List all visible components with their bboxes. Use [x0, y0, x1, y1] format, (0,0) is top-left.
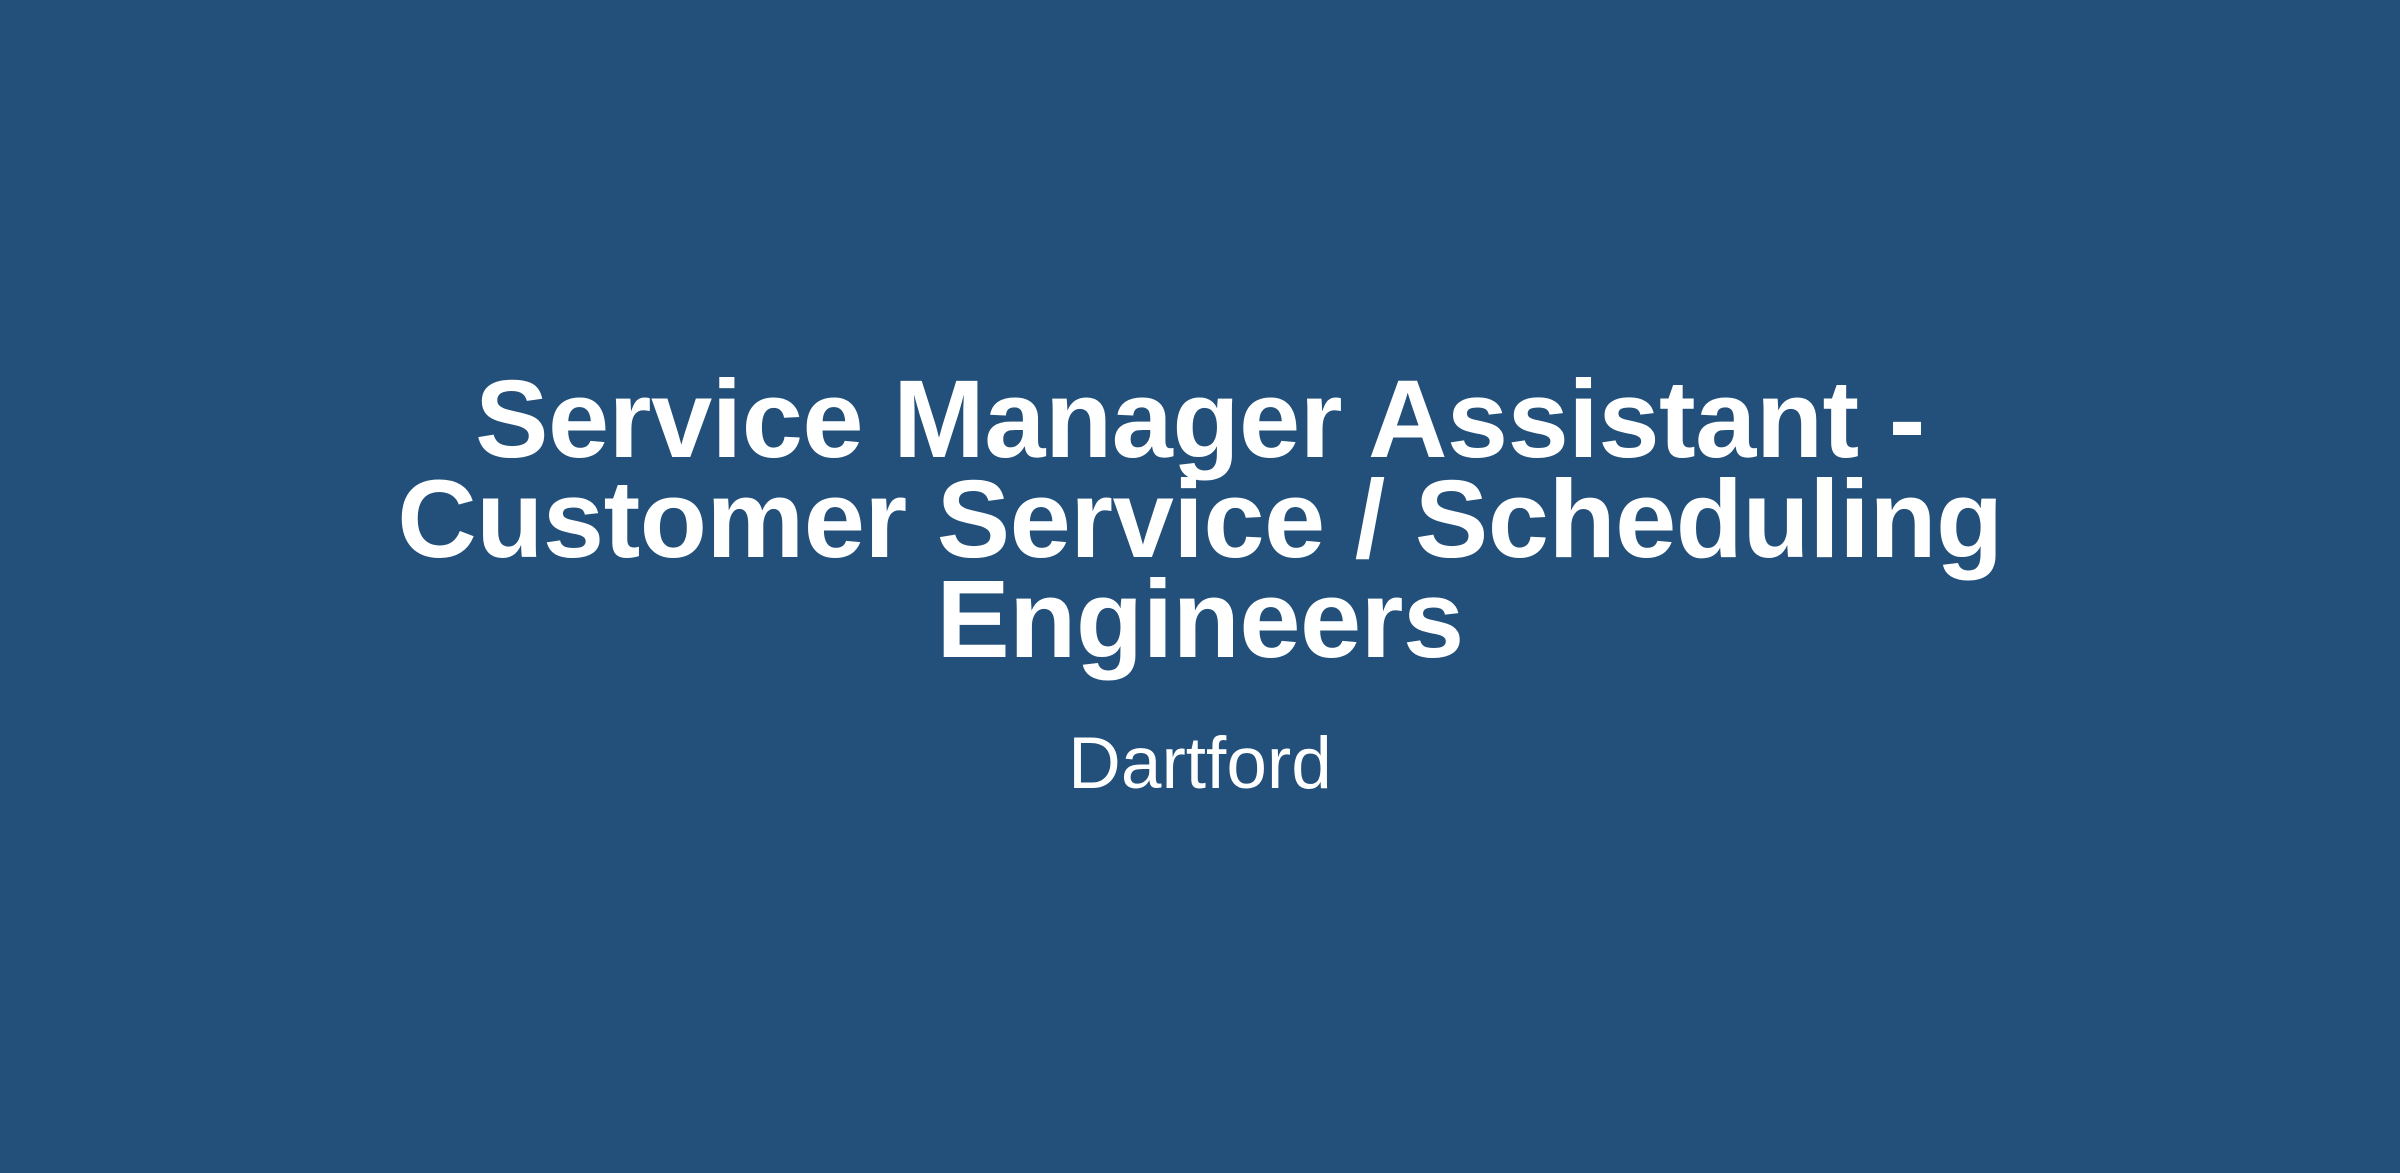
banner-content: Service Manager Assistant - Customer Ser… — [350, 370, 2050, 804]
job-posting-banner: Service Manager Assistant - Customer Ser… — [0, 0, 2400, 1173]
job-title: Service Manager Assistant - Customer Ser… — [350, 370, 2050, 670]
job-location: Dartford — [350, 724, 2050, 804]
